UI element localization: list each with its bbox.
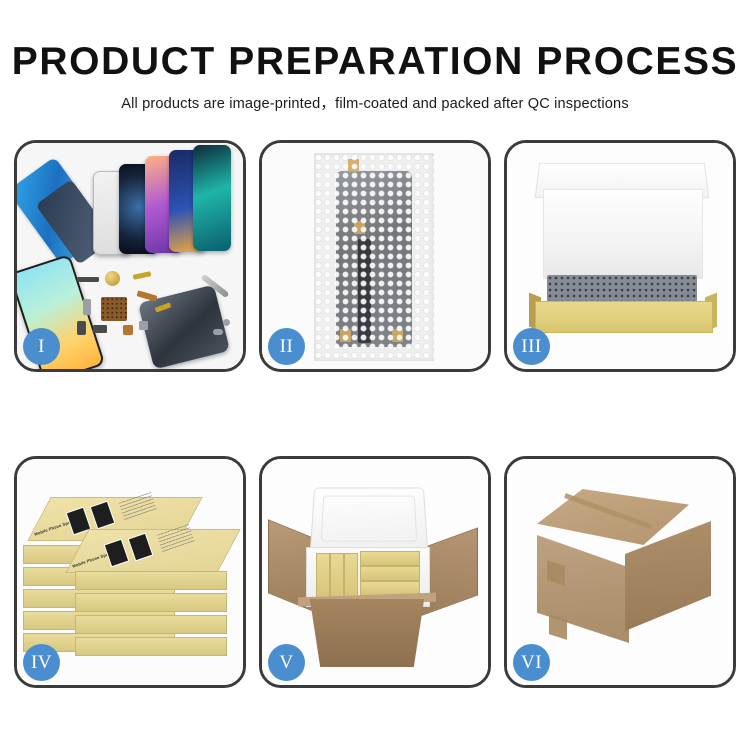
page-title: PRODUCT PREPARATION PROCESS	[0, 0, 750, 84]
step-badge-6: VI	[513, 644, 550, 681]
process-step-panel-2[interactable]: II	[259, 140, 491, 372]
kraft-box-front	[535, 301, 713, 333]
yellow-box-group-right	[360, 566, 420, 581]
yellow-box-group-left	[344, 553, 358, 601]
phone-teal-display	[193, 145, 231, 251]
page-subtitle: All products are image-printed，film-coat…	[0, 84, 750, 113]
yellow-box-group-right	[360, 551, 420, 566]
product-preparation-infographic: PRODUCT PREPARATION PROCESS All products…	[0, 0, 750, 750]
process-step-panel-3[interactable]: III	[504, 140, 736, 372]
foam-sheet	[543, 189, 703, 279]
bubble-texture	[314, 153, 434, 361]
yellow-box-group-left	[330, 553, 344, 601]
vibration-motor-part	[105, 271, 120, 286]
step-badge-1: I	[23, 328, 60, 365]
process-step-panel-6[interactable]: VI	[504, 456, 736, 688]
chip-array-part	[101, 297, 127, 321]
yellow-box-group-left	[316, 553, 330, 601]
step-badge-4: IV	[23, 644, 60, 681]
carton-front	[302, 599, 432, 667]
process-step-panel-1[interactable]: I	[14, 140, 246, 372]
bubble-wrap-bag	[314, 153, 434, 361]
step-badge-5: V	[268, 644, 305, 681]
foam-lid	[310, 488, 429, 553]
process-step-grid: I II	[14, 140, 736, 688]
step-badge-3: III	[513, 328, 550, 365]
header: PRODUCT PREPARATION PROCESS All products…	[0, 0, 750, 113]
process-step-panel-5[interactable]: V	[259, 456, 491, 688]
step-badge-2: II	[268, 328, 305, 365]
process-step-panel-4[interactable]: Mobile Phone Spare Parts Mobile Phone Sp…	[14, 456, 246, 688]
